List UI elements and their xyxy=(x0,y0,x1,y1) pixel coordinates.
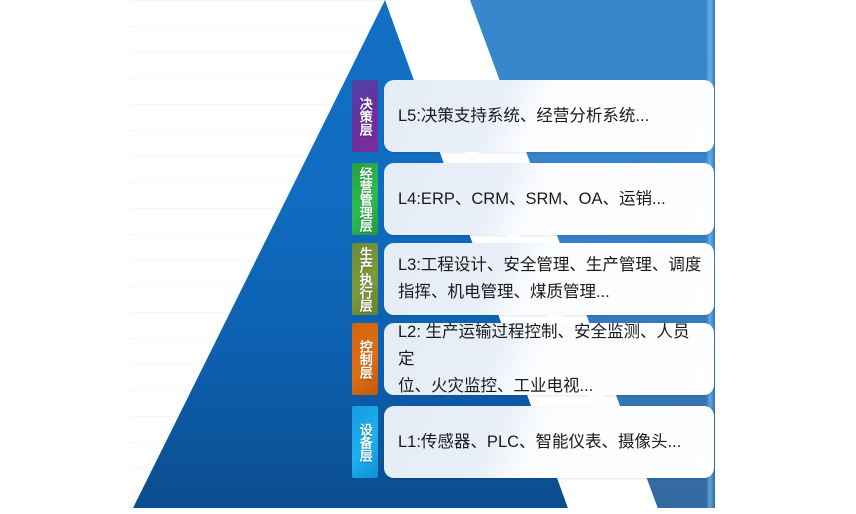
layer-row-l4[interactable]: 经营管理层 L4:ERP、CRM、SRM、OA、运销... xyxy=(352,163,714,235)
layer-card-l3-line-1: L3:工程设计、安全管理、生产管理、调度 xyxy=(398,252,701,279)
layer-row-l2[interactable]: 控制层 L2: 生产运输过程控制、安全监测、人员定 位、火灾监控、工业电视... xyxy=(352,323,714,395)
layer-row-l1[interactable]: 设备层 L1:传感器、PLC、智能仪表、摄像头... xyxy=(352,406,714,478)
layer-rows: 决策层 L5:决策支持系统、经营分析系统... 经营管理层 L4:ERP、CRM… xyxy=(0,0,856,514)
layer-row-l5[interactable]: 决策层 L5:决策支持系统、经营分析系统... xyxy=(352,80,714,152)
pyramid-diagram-canvas: 决策层 L5:决策支持系统、经营分析系统... 经营管理层 L4:ERP、CRM… xyxy=(0,0,856,514)
layer-card-l2-line-2: 位、火灾监控、工业电视... xyxy=(398,373,704,400)
layer-card-l3-line-2: 指挥、机电管理、煤质管理... xyxy=(398,279,701,306)
layer-card-l3[interactable]: L3:工程设计、安全管理、生产管理、调度 指挥、机电管理、煤质管理... xyxy=(384,243,714,315)
layer-tab-l3[interactable]: 生产执行层 xyxy=(352,243,378,315)
layer-tab-l2[interactable]: 控制层 xyxy=(352,323,378,395)
layer-card-l5[interactable]: L5:决策支持系统、经营分析系统... xyxy=(384,80,714,152)
layer-tab-l4[interactable]: 经营管理层 xyxy=(352,163,378,235)
layer-card-l2-line-1: L2: 生产运输过程控制、安全监测、人员定 xyxy=(398,319,704,373)
layer-card-l2[interactable]: L2: 生产运输过程控制、安全监测、人员定 位、火灾监控、工业电视... xyxy=(384,323,714,395)
layer-tab-l5[interactable]: 决策层 xyxy=(352,80,378,152)
layer-card-l5-line-1: L5:决策支持系统、经营分析系统... xyxy=(398,103,649,130)
flow-arrow-l2-to-l1 xyxy=(589,395,603,404)
layer-tab-l1[interactable]: 设备层 xyxy=(352,406,378,478)
layer-card-l1[interactable]: L1:传感器、PLC、智能仪表、摄像头... xyxy=(384,406,714,478)
layer-card-l4-line-1: L4:ERP、CRM、SRM、OA、运销... xyxy=(398,186,666,213)
layer-card-l4[interactable]: L4:ERP、CRM、SRM、OA、运销... xyxy=(384,163,714,235)
layer-row-l3[interactable]: 生产执行层 L3:工程设计、安全管理、生产管理、调度 指挥、机电管理、煤质管理.… xyxy=(352,243,714,315)
flow-arrow-l5-to-l4 xyxy=(465,152,479,161)
layer-card-l1-line-1: L1:传感器、PLC、智能仪表、摄像头... xyxy=(398,429,681,456)
